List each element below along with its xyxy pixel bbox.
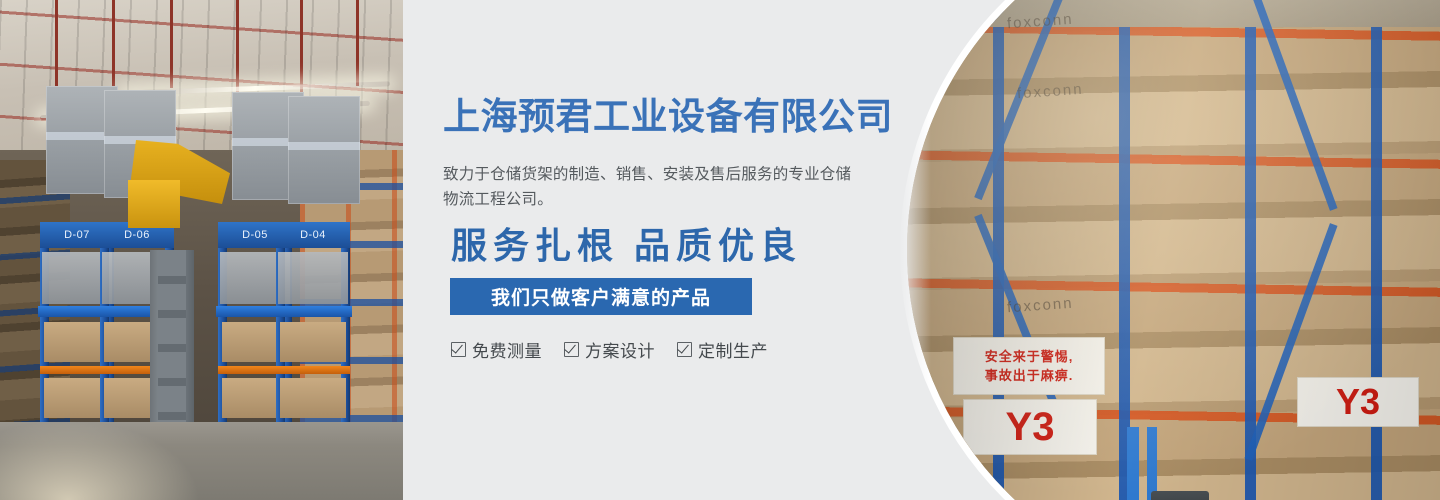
stacker-crane-cab [128,180,180,228]
feature-item-solution-design: 方案设计 [564,337,655,362]
slogan-text: 服务扎根 品质优良 [451,226,802,267]
photo-lighting-overlay [900,0,1440,500]
ceiling-rod [356,0,359,86]
left-warehouse-photo: D-07 D-06 D-05 [0,0,403,500]
right-photo-wrapper: foxconn foxconn foxconn foxconn 安全来于警惕, … [900,0,1440,500]
company-description: 致力于仓储货架的制造、销售、安装及售后服务的专业仓储物流工程公司。 [443,162,863,212]
cta-button[interactable]: 我们只做客户满意的产品 [450,278,752,315]
hero-banner: D-07 D-06 D-05 [0,0,1440,500]
floor-light-reflection [0,420,200,500]
right-photo-content: foxconn foxconn foxconn foxconn 安全来于警惕, … [900,0,1440,500]
ceiling-rod [236,0,239,100]
ceiling-rod [300,0,303,96]
feature-item-custom-production: 定制生产 [677,337,768,362]
ceiling-rod [170,0,173,88]
check-box-icon [564,342,579,357]
page-title: 上海预君工业设备有限公司 [443,98,893,135]
stacked-tote [288,96,360,204]
feature-item-free-measurement: 免费测量 [451,337,542,362]
aisle-label: D-04 [276,222,350,248]
feature-label: 定制生产 [698,337,768,362]
right-warehouse-photo-circle: foxconn foxconn foxconn foxconn 安全来于警惕, … [900,0,1440,500]
check-box-icon [677,342,692,357]
check-box-icon [451,342,466,357]
feature-label: 免费测量 [472,337,542,362]
feature-list: 免费测量 方案设计 定制生产 [451,337,768,362]
feature-label: 方案设计 [585,337,655,362]
ceiling-rod [55,0,58,92]
